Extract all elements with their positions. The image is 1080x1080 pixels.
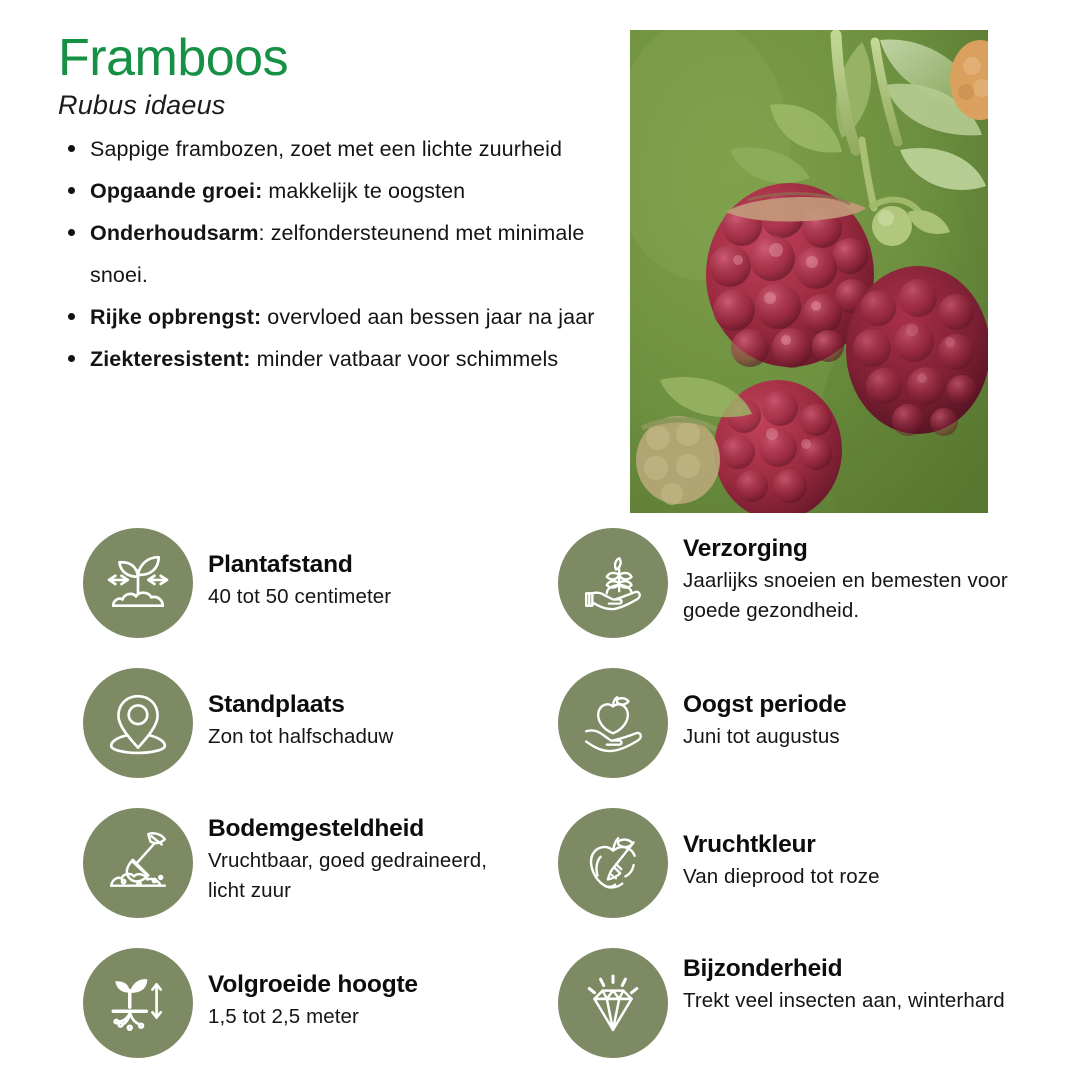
card-oogst-periode: Oogst periode Juni tot augustus — [558, 668, 1068, 778]
apple-paintbrush-icon — [580, 830, 646, 896]
card-description: Trekt veel insecten aan, winterhard — [683, 986, 1068, 1016]
card-icon-circle — [83, 948, 193, 1058]
card-description: Jaarlijks snoeien en bemesten voor goede… — [683, 566, 1068, 626]
card-text: Oogst periode Juni tot augustus — [668, 668, 1068, 752]
hand-apple-harvest-icon — [580, 690, 646, 756]
card-description: Vruchtbaar, goed gedraineerd, licht zuur — [208, 846, 523, 906]
card-description: 40 tot 50 centimeter — [208, 582, 523, 612]
card-text: Plantafstand 40 tot 50 centimeter — [193, 528, 523, 612]
shovel-soil-icon — [105, 830, 171, 896]
card-text: Volgroeide hoogte 1,5 tot 2,5 meter — [193, 948, 523, 1032]
card-title: Standplaats — [208, 690, 523, 719]
card-plantafstand: Plantafstand 40 tot 50 centimeter — [83, 528, 523, 638]
card-title: Oogst periode — [683, 690, 1068, 719]
card-text: Standplaats Zon tot halfschaduw — [193, 668, 523, 752]
info-cards: Plantafstand 40 tot 50 centimeter Standp… — [0, 0, 1080, 1080]
plant-height-icon — [105, 970, 171, 1036]
card-title: Bodemgesteldheid — [208, 814, 523, 843]
card-icon-circle — [558, 528, 668, 638]
card-standplaats: Standplaats Zon tot halfschaduw — [83, 668, 523, 778]
card-description: Van dieprood tot roze — [683, 862, 1068, 892]
card-icon-circle — [83, 528, 193, 638]
card-title: Volgroeide hoogte — [208, 970, 523, 999]
location-pin-icon — [105, 690, 171, 756]
card-icon-circle — [558, 808, 668, 918]
card-title: Vruchtkleur — [683, 830, 1068, 859]
card-description: Juni tot augustus — [683, 722, 1068, 752]
card-bodemgesteldheid: Bodemgesteldheid Vruchtbaar, goed gedrai… — [83, 808, 523, 918]
card-volgroeide-hoogte: Volgroeide hoogte 1,5 tot 2,5 meter — [83, 948, 523, 1058]
card-vruchtkleur: Vruchtkleur Van dieprood tot roze — [558, 808, 1068, 918]
card-title: Bijzonderheid — [683, 954, 1068, 983]
card-icon-circle — [558, 668, 668, 778]
diamond-sparkle-icon — [580, 970, 646, 1036]
card-title: Verzorging — [683, 534, 1068, 563]
card-text: Vruchtkleur Van dieprood tot roze — [668, 808, 1068, 892]
card-text: Bijzonderheid Trekt veel insecten aan, w… — [668, 948, 1068, 1016]
card-icon-circle — [83, 668, 193, 778]
card-icon-circle — [83, 808, 193, 918]
card-verzorging: Verzorging Jaarlijks snoeien en bemesten… — [558, 528, 1068, 638]
card-title: Plantafstand — [208, 550, 523, 579]
hand-plant-care-icon — [580, 550, 646, 616]
card-text: Verzorging Jaarlijks snoeien en bemesten… — [668, 528, 1068, 626]
card-text: Bodemgesteldheid Vruchtbaar, goed gedrai… — [193, 808, 523, 906]
card-description: Zon tot halfschaduw — [208, 722, 523, 752]
card-bijzonderheid: Bijzonderheid Trekt veel insecten aan, w… — [558, 948, 1068, 1058]
plant-spacing-icon — [105, 550, 171, 616]
card-description: 1,5 tot 2,5 meter — [208, 1002, 523, 1032]
card-icon-circle — [558, 948, 668, 1058]
